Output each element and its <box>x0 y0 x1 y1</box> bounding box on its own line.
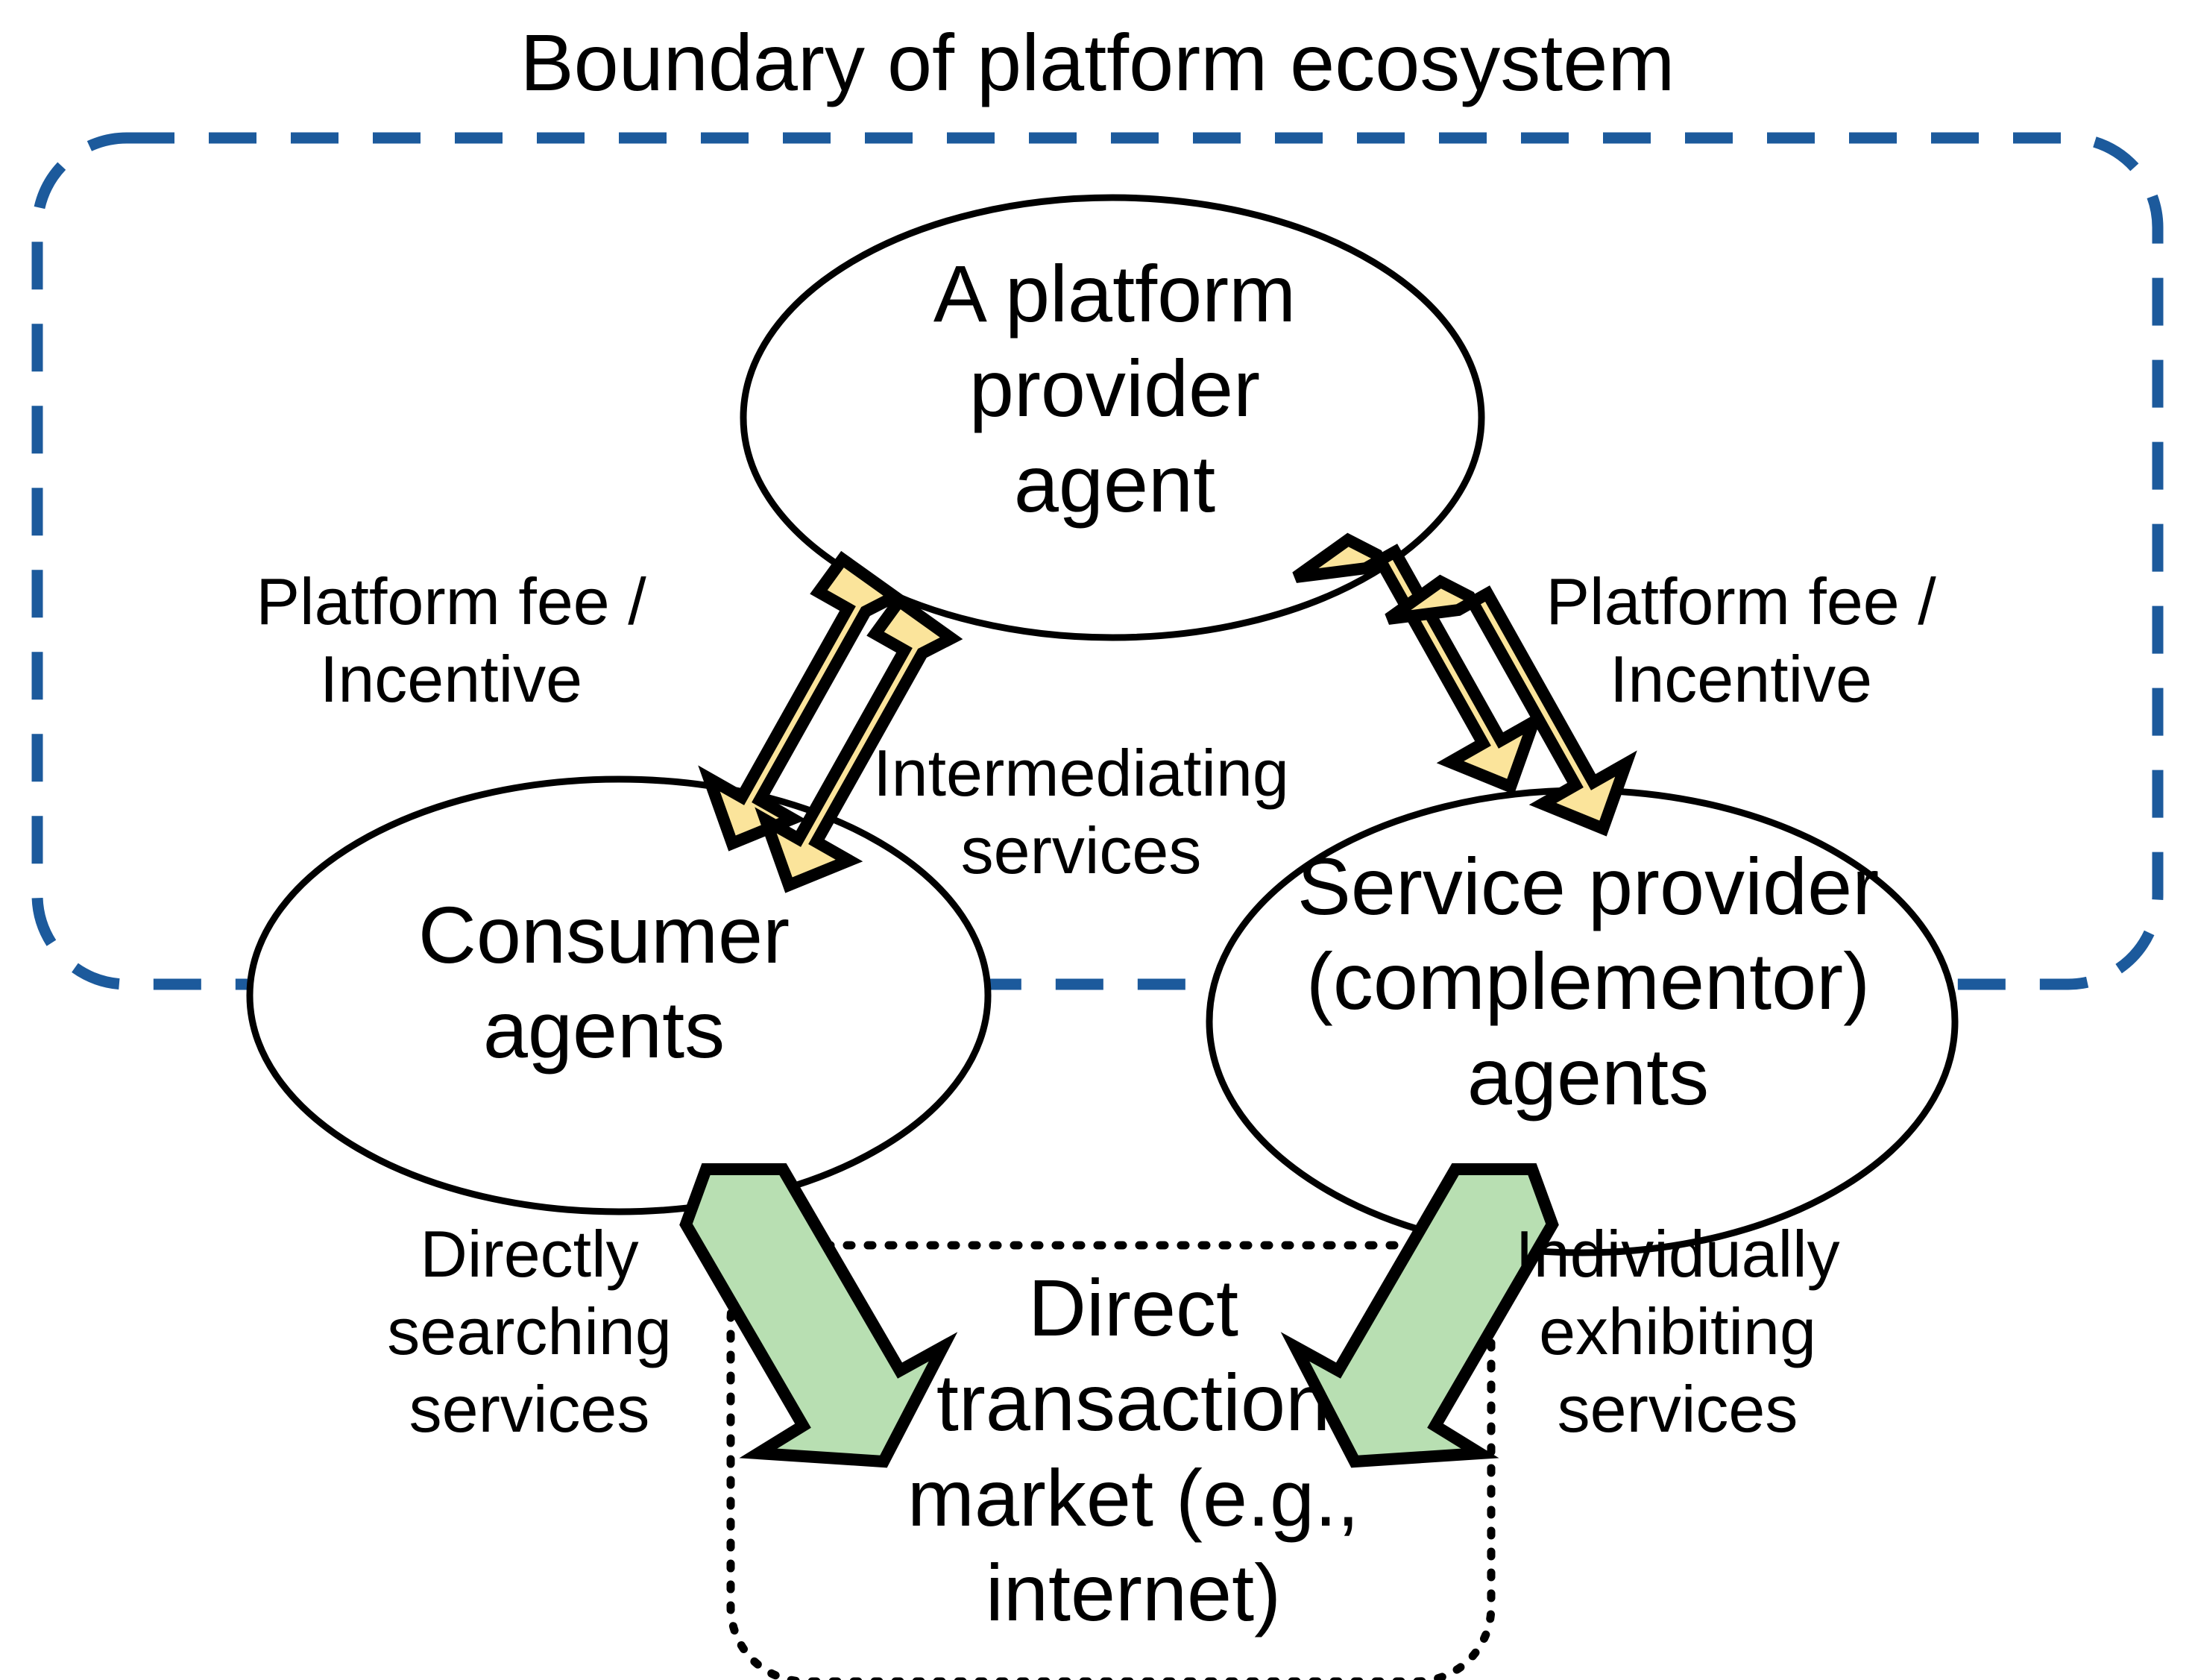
platform-provider-label: A platform provider agent <box>757 246 1473 531</box>
edge-label-individually-exhibiting-services: Individually exhibiting services <box>1484 1215 1871 1447</box>
diagram-canvas: Boundary of platform ecosystem A platfor… <box>0 0 2195 1680</box>
service-provider-agents-label: Service provider (complementor) agents <box>1215 839 1961 1124</box>
boundary-caption: Boundary of platform ecosystem <box>0 15 2195 110</box>
edge-label-directly-searching-services: Directly searching services <box>343 1215 716 1447</box>
edge-label-intermediating-services: Intermediating services <box>839 734 1323 890</box>
edge-label-platform-fee-left: Platform fee / Incentive <box>190 563 712 718</box>
consumer-agents-label: Consumer agents <box>246 887 962 1077</box>
direct-transaction-market-label: Direct transaction market (e.g., interne… <box>757 1260 1510 1640</box>
edge-label-platform-fee-right: Platform fee / Incentive <box>1480 563 2002 718</box>
